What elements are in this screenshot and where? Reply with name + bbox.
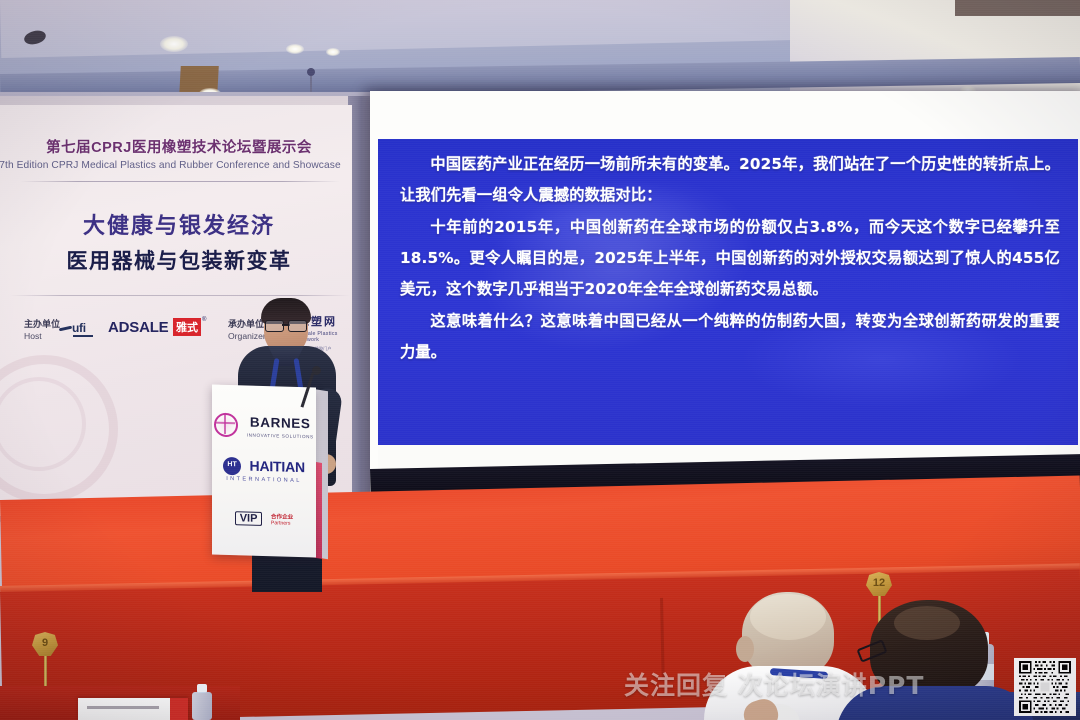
downlight-icon xyxy=(326,48,340,56)
podium: BARNES INNOVATIVE SOLUTIONS HAITIAN INTE… xyxy=(212,386,328,571)
bottle-body xyxy=(192,692,212,720)
slide-paragraph: 这意味着什么？这意味着中国已经从一个纯粹的仿制药大国，转变为全球创新药研发的重要… xyxy=(400,306,1060,368)
table-number-value: 9 xyxy=(32,637,58,649)
microphone-head-icon xyxy=(312,366,321,375)
adsale-logo-cn: 雅式 xyxy=(173,318,201,336)
slide-text-block: 中国医药产业正在经历一场前所未有的变革。2025年，我们站在了一个历史性的转折点… xyxy=(400,149,1060,369)
ceiling-dark-trim xyxy=(955,0,1080,16)
adsale-logo: ADSALE xyxy=(108,319,168,336)
audience-scalp xyxy=(750,594,826,640)
podium-face: BARNES INNOVATIVE SOLUTIONS HAITIAN INTE… xyxy=(212,385,316,558)
haitian-name: HAITIAN xyxy=(250,458,305,476)
backdrop-divider xyxy=(20,181,340,182)
slide-paragraph: 十年前的2015年，中国创新药在全球市场的份额仅占3.8%，而今天这个数字已经攀… xyxy=(400,212,1060,305)
downlight-icon xyxy=(286,44,304,54)
name-card xyxy=(78,698,188,720)
eyeglasses-icon xyxy=(265,320,307,330)
barnes-mark-icon xyxy=(214,413,238,438)
slide-blue-panel: 中国医药产业正在经历一场前所未有的变革。2025年，我们站在了一个历史性的转折点… xyxy=(378,139,1078,445)
name-card-text-line xyxy=(87,706,159,709)
ufi-logo: ufi xyxy=(72,321,86,335)
name-card-accent xyxy=(170,698,188,720)
host-label: 主办单位 Host xyxy=(24,319,60,342)
table-number-plate: 9 xyxy=(32,632,58,656)
vip-badge: VIP xyxy=(235,511,263,526)
host-label-en: Host xyxy=(24,331,60,343)
qr-code-icon[interactable] xyxy=(1014,658,1076,716)
watermark-text: 关注回复 次论坛演讲PPT xyxy=(624,666,984,704)
water-bottle-icon xyxy=(192,684,212,720)
table-number-plate: 12 xyxy=(866,572,892,596)
audience-scalp xyxy=(894,606,960,640)
podium-logo-vip: VIP 合作企业 Partners xyxy=(212,509,316,530)
audience-ear xyxy=(736,636,754,662)
podium-logo-haitian: HAITIAN INTERNATIONAL xyxy=(212,457,316,485)
downlight-icon xyxy=(160,36,188,52)
vip-partners-en: Partners xyxy=(271,520,293,527)
podium-logo-barnes: BARNES INNOVATIVE SOLUTIONS xyxy=(212,413,316,440)
host-label-cn: 主办单位 xyxy=(24,319,60,329)
barnes-name: BARNES xyxy=(250,415,311,432)
slide-paragraph: 中国医药产业正在经历一场前所未有的变革。2025年，我们站在了一个历史性的转折点… xyxy=(400,149,1060,211)
projection-screen: 中国医药产业正在经历一场前所未有的变革。2025年，我们站在了一个历史性的转折点… xyxy=(370,91,1080,523)
adsale-registered-mark: ® xyxy=(202,317,206,323)
event-title-en: 7th Edition CPRJ Medical Plastics and Ru… xyxy=(0,160,348,171)
table-number-value: 12 xyxy=(866,577,892,589)
haitian-subtitle: INTERNATIONAL xyxy=(212,476,316,485)
event-theme-line2: 医用器械与包装新变革 xyxy=(14,245,344,275)
haitian-mark-icon xyxy=(223,457,241,476)
vip-partners-label: 合作企业 Partners xyxy=(271,512,293,527)
conference-photo-scene: 第七届CPRJ医用橡塑技术论坛暨展示会 7th Edition CPRJ Med… xyxy=(0,0,1080,720)
event-theme-line1: 大健康与银发经济 xyxy=(14,208,344,240)
event-title-cn: 第七届CPRJ医用橡塑技术论坛暨展示会 xyxy=(14,136,344,157)
barnes-subtitle: INNOVATIVE SOLUTIONS xyxy=(247,433,314,440)
